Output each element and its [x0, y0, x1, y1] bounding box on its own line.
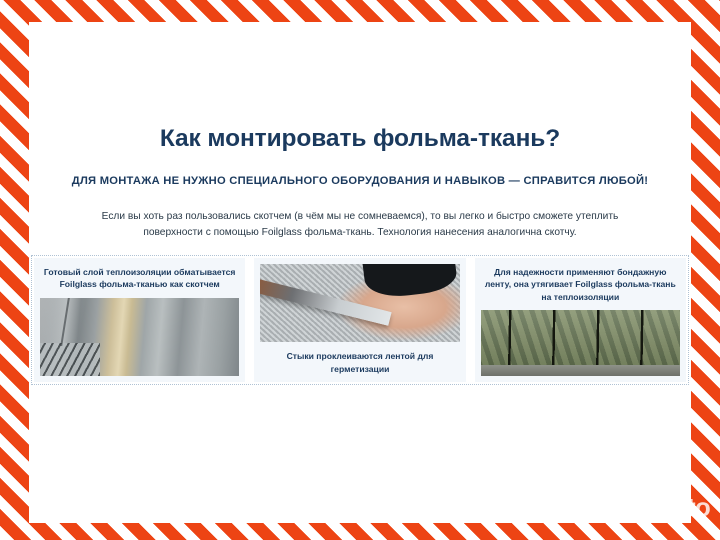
poster-root: Как монтировать фольма-ткань? ДЛЯ МОНТАЖ… — [0, 0, 720, 540]
step-panel-3: Для надежности применяют бондажную ленту… — [475, 258, 686, 382]
page-title: Как монтировать фольма-ткань? — [29, 126, 691, 153]
page-subtitle: ДЛЯ МОНТАЖА НЕ НУЖНО СПЕЦИАЛЬНОГО ОБОРУД… — [55, 175, 665, 188]
step-panel-1: Готовый слой теплоизоляции обматывается … — [34, 258, 245, 382]
content-card: Как монтировать фольма-ткань? ДЛЯ МОНТАЖ… — [29, 22, 691, 523]
hand-taping-foil-photo — [260, 264, 459, 342]
steps-panel-strip: Готовый слой теплоизоляции обматывается … — [31, 255, 689, 385]
foil-wrapped-duct-photo — [40, 298, 239, 376]
step-caption-2: Стыки проклеиваются лентой для герметиза… — [254, 342, 465, 382]
page-body-text: Если вы хоть раз пользовались скотчем (в… — [80, 209, 640, 241]
step-panel-2: Стыки проклеиваются лентой для герметиза… — [254, 258, 465, 382]
banded-green-duct-photo — [481, 310, 680, 376]
step-caption-1: Готовый слой теплоизоляции обматывается … — [34, 258, 245, 298]
headline-block: Как монтировать фольма-ткань? ДЛЯ МОНТАЖ… — [29, 126, 691, 241]
step-caption-3: Для надежности применяют бондажную ленту… — [475, 258, 686, 310]
